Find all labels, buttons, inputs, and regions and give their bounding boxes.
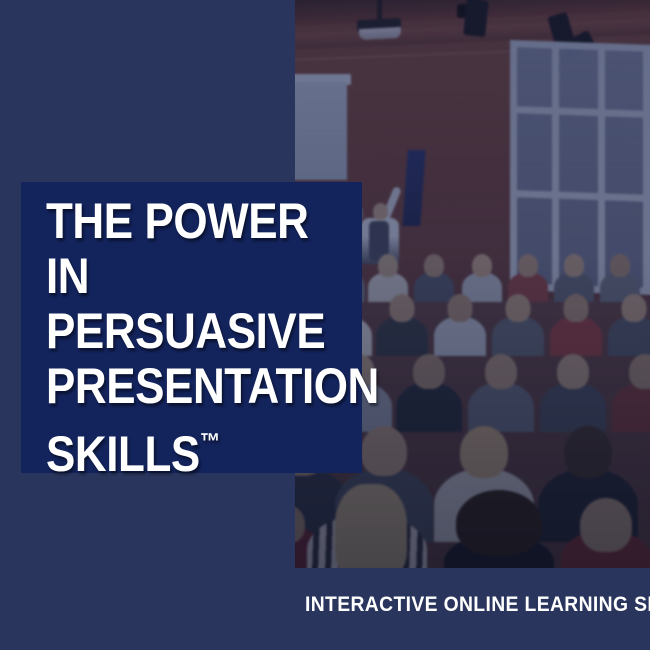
footer-bar: INTERACTIVE ONLINE LEARNING SESSION Cont… — [0, 568, 650, 650]
session-tagline: INTERACTIVE ONLINE LEARNING SESSION — [305, 593, 650, 617]
title-card: THE POWER IN PERSUASIVE PRESENTATION SKI… — [21, 182, 362, 473]
trademark-symbol: ™ — [200, 428, 220, 454]
page-title: THE POWER IN PERSUASIVE PRESENTATION SKI… — [46, 194, 319, 482]
poster-canvas: THE POWER IN PERSUASIVE PRESENTATION SKI… — [0, 0, 650, 650]
